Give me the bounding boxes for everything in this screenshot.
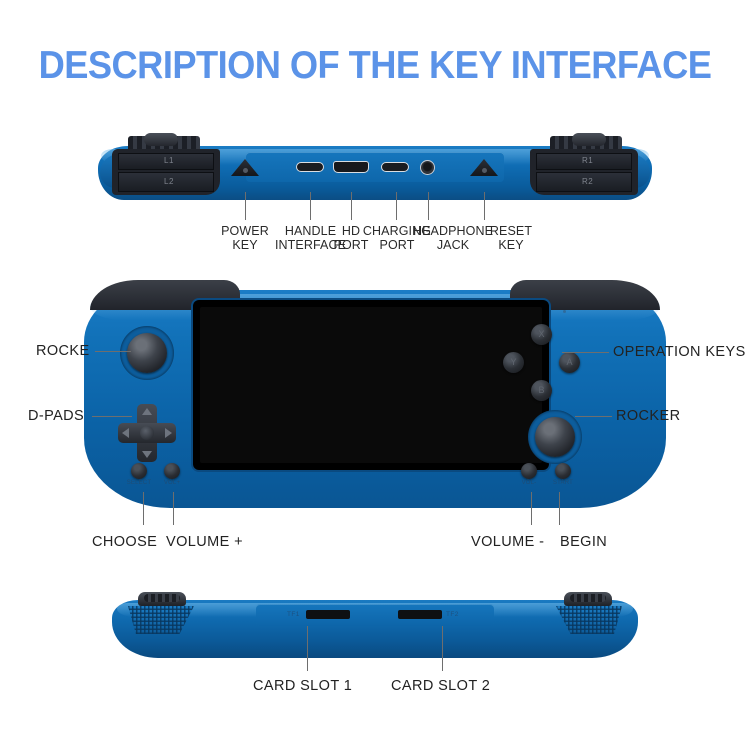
power-key-dot (243, 168, 248, 173)
r1-label: R1 (582, 156, 593, 165)
d-pad-right-arrow-icon (165, 428, 172, 438)
volume-up-button[interactable] (164, 463, 180, 479)
right-shoulder-block: R1 R2 (530, 149, 638, 195)
l1-label: L1 (164, 156, 174, 165)
device-top-edge-view: L1 L2 R1 R2 (98, 134, 652, 200)
button-y[interactable]: Y (503, 352, 524, 373)
button-x[interactable]: X (531, 324, 552, 345)
callout-headphone-jack-line2: JACK (412, 238, 494, 252)
callout-begin: BEGIN (560, 534, 607, 550)
callout-d-pads: D-PADS (28, 408, 84, 424)
callout-volume-minus: VOLUME - (471, 534, 544, 550)
leader-card-slot-2 (442, 626, 443, 671)
page-title: DESCRIPTION OF THE KEY INTERFACE (26, 44, 724, 88)
leader-begin (559, 492, 560, 525)
start-button-label: START (546, 480, 580, 486)
right-rocker[interactable] (528, 410, 582, 464)
card-slot-2-mark: TF2 (446, 611, 459, 618)
r2-label: R2 (582, 177, 593, 186)
callout-reset-key-line1: RESET (486, 224, 536, 238)
display-screen-surface (200, 307, 542, 463)
volume-down-button-label: VOL- (512, 480, 546, 486)
volume-down-button[interactable] (521, 463, 537, 479)
leader-headphone-jack (428, 192, 429, 220)
card-slot-2[interactable] (398, 610, 442, 619)
card-slot-1[interactable] (306, 610, 350, 619)
device-front-view: X Y A B SELECT VOL+ VOL- START (84, 280, 666, 516)
d-pad-up-arrow-icon (142, 408, 152, 415)
select-button-label: SELECT (122, 480, 156, 486)
leader-reset-key (484, 192, 485, 220)
left-shoulder-block: L1 L2 (112, 149, 220, 195)
leader-left-rocker (95, 351, 131, 352)
callout-reset-key: RESET KEY (486, 224, 536, 252)
left-rocker-cap (127, 333, 167, 373)
button-a[interactable]: A (559, 352, 580, 373)
left-stick-top (144, 133, 178, 146)
bottom-right-stick (564, 592, 612, 606)
leader-right-rocker (575, 416, 612, 417)
leader-volume-minus (531, 492, 532, 525)
right-stick-top (572, 133, 606, 146)
device-bottom-edge-view: TF1 TF2 (112, 592, 638, 664)
callout-choose: CHOOSE (92, 534, 157, 550)
leader-power-key (245, 192, 246, 220)
callout-reset-key-line2: KEY (486, 238, 536, 252)
callout-left-rocker: ROCKE (36, 343, 90, 359)
headphone-jack[interactable] (420, 160, 435, 175)
start-button[interactable] (555, 463, 571, 479)
handle-interface-port[interactable] (296, 162, 324, 172)
d-pad-down-arrow-icon (142, 451, 152, 458)
callout-volume-plus: VOLUME + (166, 534, 243, 550)
callout-headphone-jack-line1: HEADPHONE (412, 224, 494, 238)
bottom-left-stick (138, 592, 186, 606)
leader-volume-plus (173, 492, 174, 525)
callout-card-slot-2: CARD SLOT 2 (391, 678, 490, 694)
leader-d-pads (92, 416, 132, 417)
callout-card-slot-1: CARD SLOT 1 (253, 678, 352, 694)
indicator-led (563, 310, 566, 313)
button-b[interactable]: B (531, 380, 552, 401)
leader-handle-interface (310, 192, 311, 220)
leader-hd-port (351, 192, 352, 220)
d-pad-hub (140, 426, 154, 440)
product-diagram-page: DESCRIPTION OF THE KEY INTERFACE L1 L2 R… (0, 0, 750, 750)
callout-right-rocker: ROCKER (616, 408, 680, 424)
card-slot-1-mark: TF1 (287, 611, 300, 618)
left-rocker[interactable] (120, 326, 174, 380)
callout-headphone-jack: HEADPHONE JACK (412, 224, 494, 252)
right-rocker-cap (535, 417, 575, 457)
l2-label: L2 (164, 177, 174, 186)
d-pad[interactable] (118, 404, 176, 462)
d-pad-left-arrow-icon (122, 428, 129, 438)
leader-operation-keys (562, 352, 609, 353)
leader-card-slot-1 (307, 626, 308, 671)
reset-key-dot (482, 168, 487, 173)
display-screen[interactable] (193, 300, 549, 470)
charging-port[interactable] (381, 162, 409, 172)
hd-port[interactable] (333, 161, 369, 173)
select-button[interactable] (131, 463, 147, 479)
leader-charging-port (396, 192, 397, 220)
callout-operation-keys: OPERATION KEYS (613, 344, 746, 360)
volume-up-button-label: VOL+ (155, 480, 189, 486)
top-edge-center-plate (246, 152, 504, 182)
leader-choose (143, 492, 144, 525)
